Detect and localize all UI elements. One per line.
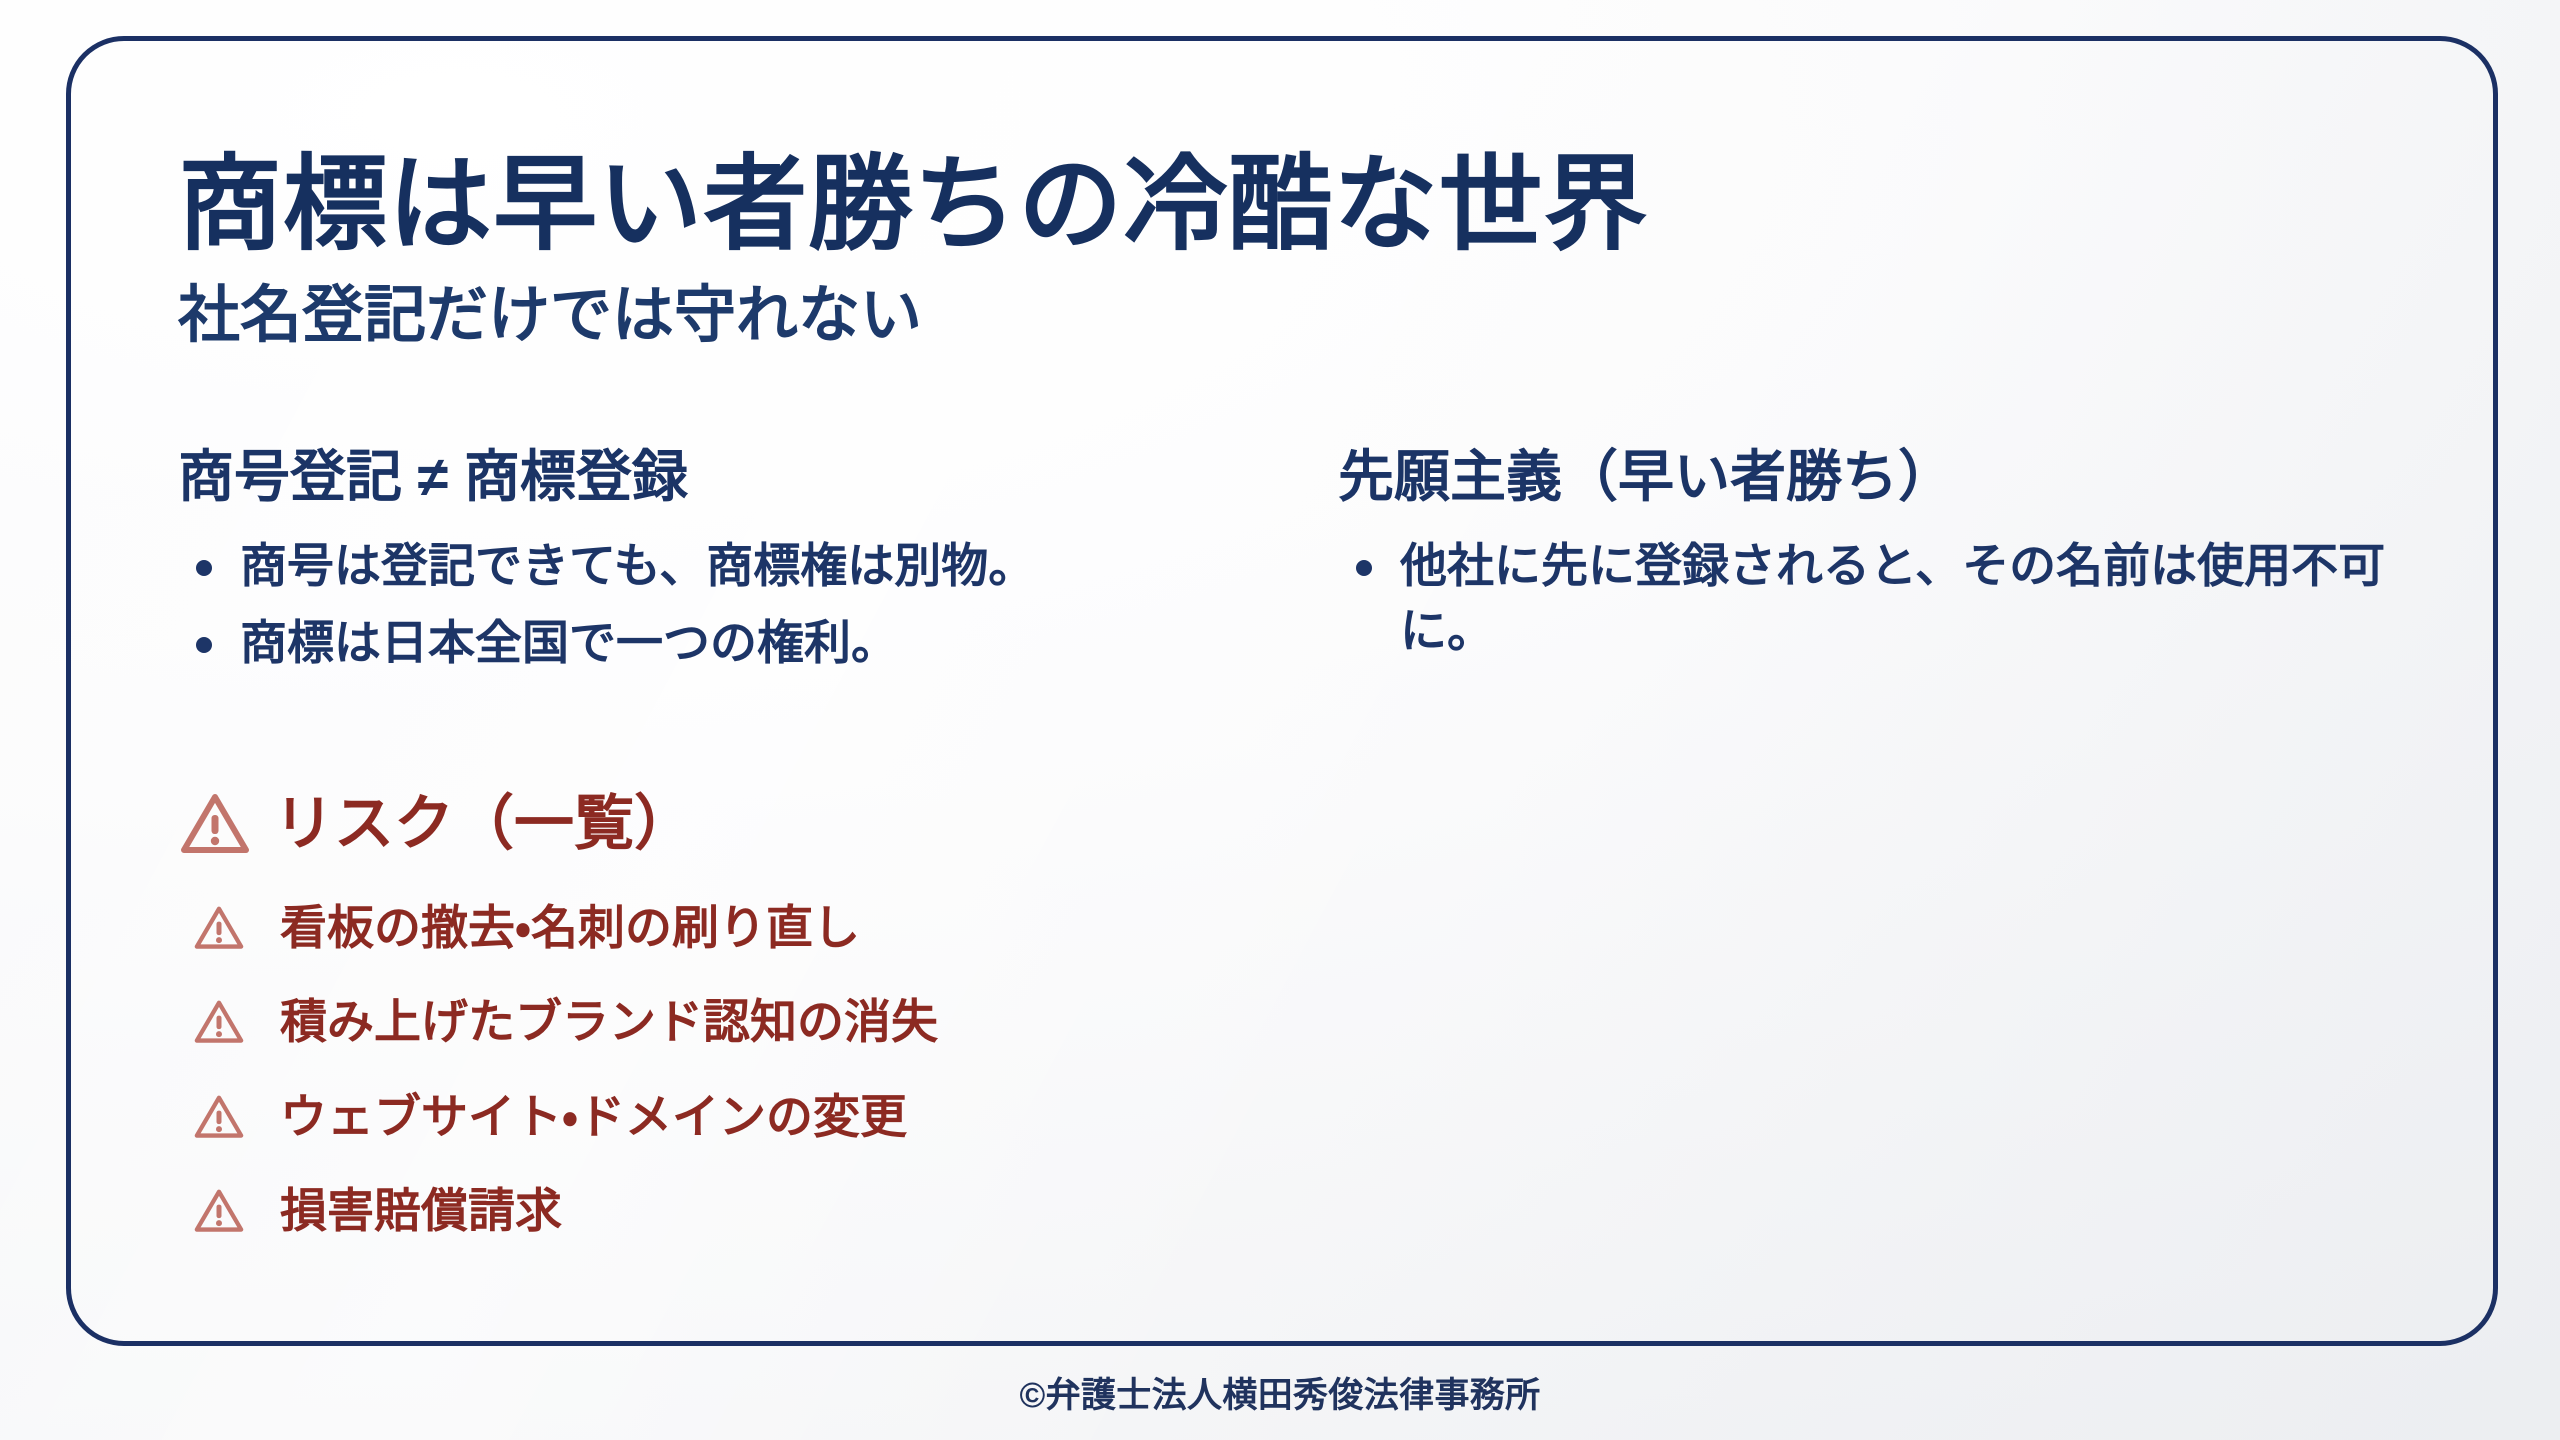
warning-triangle-icon [194,999,244,1045]
warning-triangle-icon [180,792,250,856]
warning-triangle-icon [194,1188,244,1234]
risk-item-label: 損害賠償請求 [280,1183,562,1239]
two-column-section: 商号登記 ≠ 商標登録 商号は登記できても、商標権は別物。 商標は日本全国で一つ… [178,446,2410,687]
column-heading-first-to-file: 先願主義（早い者勝ち） [1338,446,2498,508]
risk-item: 看板の撤去・名刺の刷り直し [178,900,1338,956]
risk-item-label: 看板の撤去・名刺の刷り直し [280,900,860,956]
list-item: 商号は登記できても、商標権は別物。 [178,534,1338,599]
risk-item-label: 積み上げたブランド認知の消失 [280,994,938,1050]
warning-triangle-icon [194,905,244,951]
slide-content: 商標は早い者勝ちの冷酷な世界 社名登記だけでは守れない 商号登記 ≠ 商標登録 … [178,150,2410,1277]
bullet-list-trade-name: 商号は登記できても、商標権は別物。 商標は日本全国で一つの権利。 [178,534,1338,676]
column-trade-name: 商号登記 ≠ 商標登録 商号は登記できても、商標権は別物。 商標は日本全国で一つ… [178,446,1338,687]
list-item: 商標は日本全国で一つの権利。 [178,611,1338,676]
list-item: 他社に先に登録されると、その名前は使用不可に。 [1338,534,2400,664]
risk-section-header: リスク（一覧） [180,792,2410,856]
risk-item-label: ウェブサイト・ドメインの変更 [280,1089,907,1145]
column-heading-trade-name: 商号登記 ≠ 商標登録 [178,446,1338,508]
footer-copyright: ©弁護士法人横田秀俊法律事務所 [0,1367,2560,1418]
bullet-list-first-to-file: 他社に先に登録されると、その名前は使用不可に。 [1338,534,2498,664]
slide-canvas: 商標は早い者勝ちの冷酷な世界 社名登記だけでは守れない 商号登記 ≠ 商標登録 … [0,0,2560,1440]
risk-item: 損害賠償請求 [178,1183,1338,1239]
risk-section-label: リスク（一覧） [274,794,694,854]
column-first-to-file: 先願主義（早い者勝ち） 他社に先に登録されると、その名前は使用不可に。 [1338,446,2498,687]
risk-list: 看板の撤去・名刺の刷り直し 積み上げたブランド認知の消失 ウェブサイト・ドメイン… [178,900,2410,1278]
risk-item: 積み上げたブランド認知の消失 [178,994,1338,1050]
risk-item: ウェブサイト・ドメインの変更 [178,1089,1338,1145]
page-title: 商標は早い者勝ちの冷酷な世界 [178,150,2410,260]
page-subtitle: 社名登記だけでは守れない [178,282,2410,350]
warning-triangle-icon [194,1094,244,1140]
